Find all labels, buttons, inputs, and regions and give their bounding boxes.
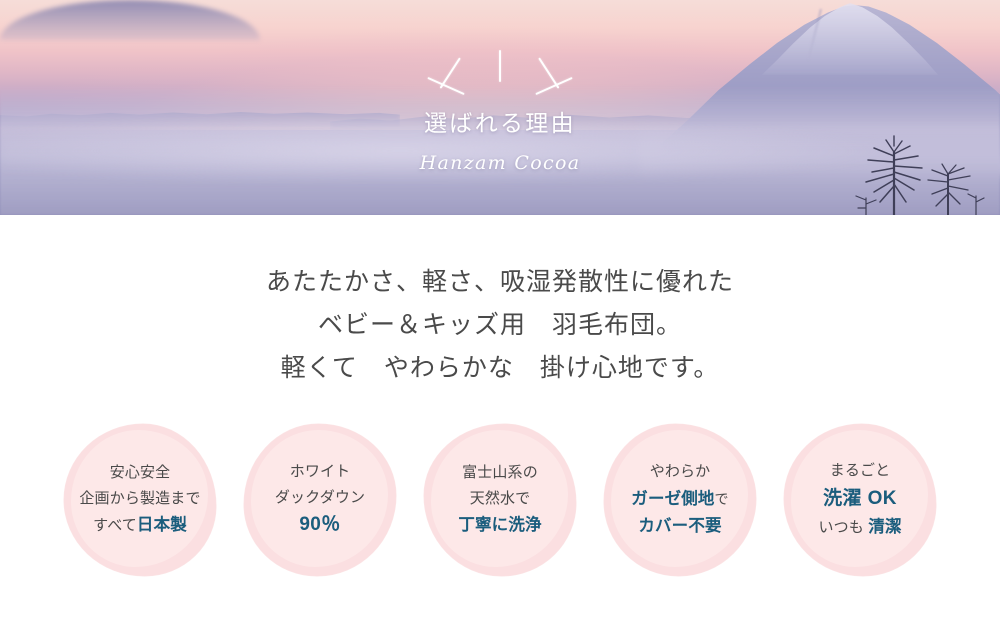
badge-suffix: で — [715, 491, 729, 507]
badge-line: やわらか — [650, 464, 711, 481]
lead-copy: あたたかさ、軽さ、吸湿発散性に優れた ベビー＆キッズ用 羽毛布団。 軽くて やわ… — [0, 261, 1000, 390]
ray-left — [440, 57, 461, 88]
badge-line-accent: 洗濯 OK — [823, 489, 897, 510]
feature-badge-white-duck-down[interactable]: ホワイト ダックダウン 90％ — [244, 424, 396, 576]
badge-line: 安心安全 — [110, 465, 171, 482]
badge-line: ホワイト — [290, 464, 351, 481]
badge-line-accent: いつも 清潔 — [818, 518, 901, 537]
badge-accent: 丁寧に洗浄 — [458, 516, 541, 534]
lead-line-1: あたたかさ、軽さ、吸湿発散性に優れた — [0, 261, 1000, 304]
badge-line-accent: カバー不要 — [638, 517, 721, 536]
badge-accent: 90％ — [299, 514, 340, 535]
hero-title: 選ばれる理由 — [424, 104, 576, 138]
badge-line: 富士山系の — [462, 465, 538, 482]
feature-badge-made-in-japan[interactable]: 安心安全 企画から製造まで すべて日本製 — [64, 424, 216, 576]
badge-line-accent: 丁寧に洗浄 — [458, 516, 541, 535]
badge-accent: カバー不要 — [638, 517, 721, 535]
badge-text: 富士山系の 天然水で 丁寧に洗浄 — [424, 424, 576, 576]
badge-text: 安心安全 企画から製造まで すべて日本製 — [64, 424, 216, 576]
badge-prefix: いつも — [818, 519, 868, 536]
sunburst-rays-icon — [420, 44, 580, 96]
feature-badge-gauze-no-cover[interactable]: やわらか ガーゼ側地で カバー不要 — [604, 424, 756, 576]
badge-accent: 洗濯 OK — [823, 488, 897, 509]
badge-line-accent: すべて日本製 — [93, 516, 187, 535]
badge-line: まるごと — [830, 463, 891, 480]
lead-line-3: 軽くて やわらかな 掛け心地です。 — [0, 347, 1000, 390]
hero-banner: 選ばれる理由 Hanzam Cocoa — [0, 0, 1000, 215]
landing-page: 選ばれる理由 Hanzam Cocoa あたたかさ、軽さ、吸湿発散性に優れた ベ… — [0, 0, 1000, 621]
feature-badge-fuji-water-washing[interactable]: 富士山系の 天然水で 丁寧に洗浄 — [424, 424, 576, 576]
brand-logo-text: Hanzam Cocoa — [420, 152, 581, 174]
badge-text: やわらか ガーゼ側地で カバー不要 — [604, 424, 756, 576]
feature-badge-washable-ok[interactable]: まるごと 洗濯 OK いつも 清潔 — [784, 424, 936, 576]
badge-line: ダックダウン — [275, 490, 365, 507]
badge-line: 天然水で — [470, 491, 531, 508]
badge-accent: 日本製 — [137, 516, 187, 534]
badge-text: まるごと 洗濯 OK いつも 清潔 — [784, 424, 936, 576]
badge-text: ホワイト ダックダウン 90％ — [244, 424, 396, 576]
lead-line-2: ベビー＆キッズ用 羽毛布団。 — [0, 304, 1000, 347]
badge-line-accent: 90％ — [299, 515, 340, 536]
badge-line: 企画から製造まで — [79, 491, 200, 508]
hero-content: 選ばれる理由 Hanzam Cocoa — [0, 0, 1000, 215]
badge-prefix: すべて — [93, 517, 137, 534]
badge-line-accent: ガーゼ側地で — [631, 490, 728, 509]
ray-center — [499, 50, 501, 82]
badge-accent: 清潔 — [868, 518, 901, 536]
feature-badge-row: 安心安全 企画から製造まで すべて日本製 ホワイト ダックダウン 90％ 富士山… — [0, 424, 1000, 580]
badge-accent: ガーゼ側地 — [631, 490, 714, 508]
